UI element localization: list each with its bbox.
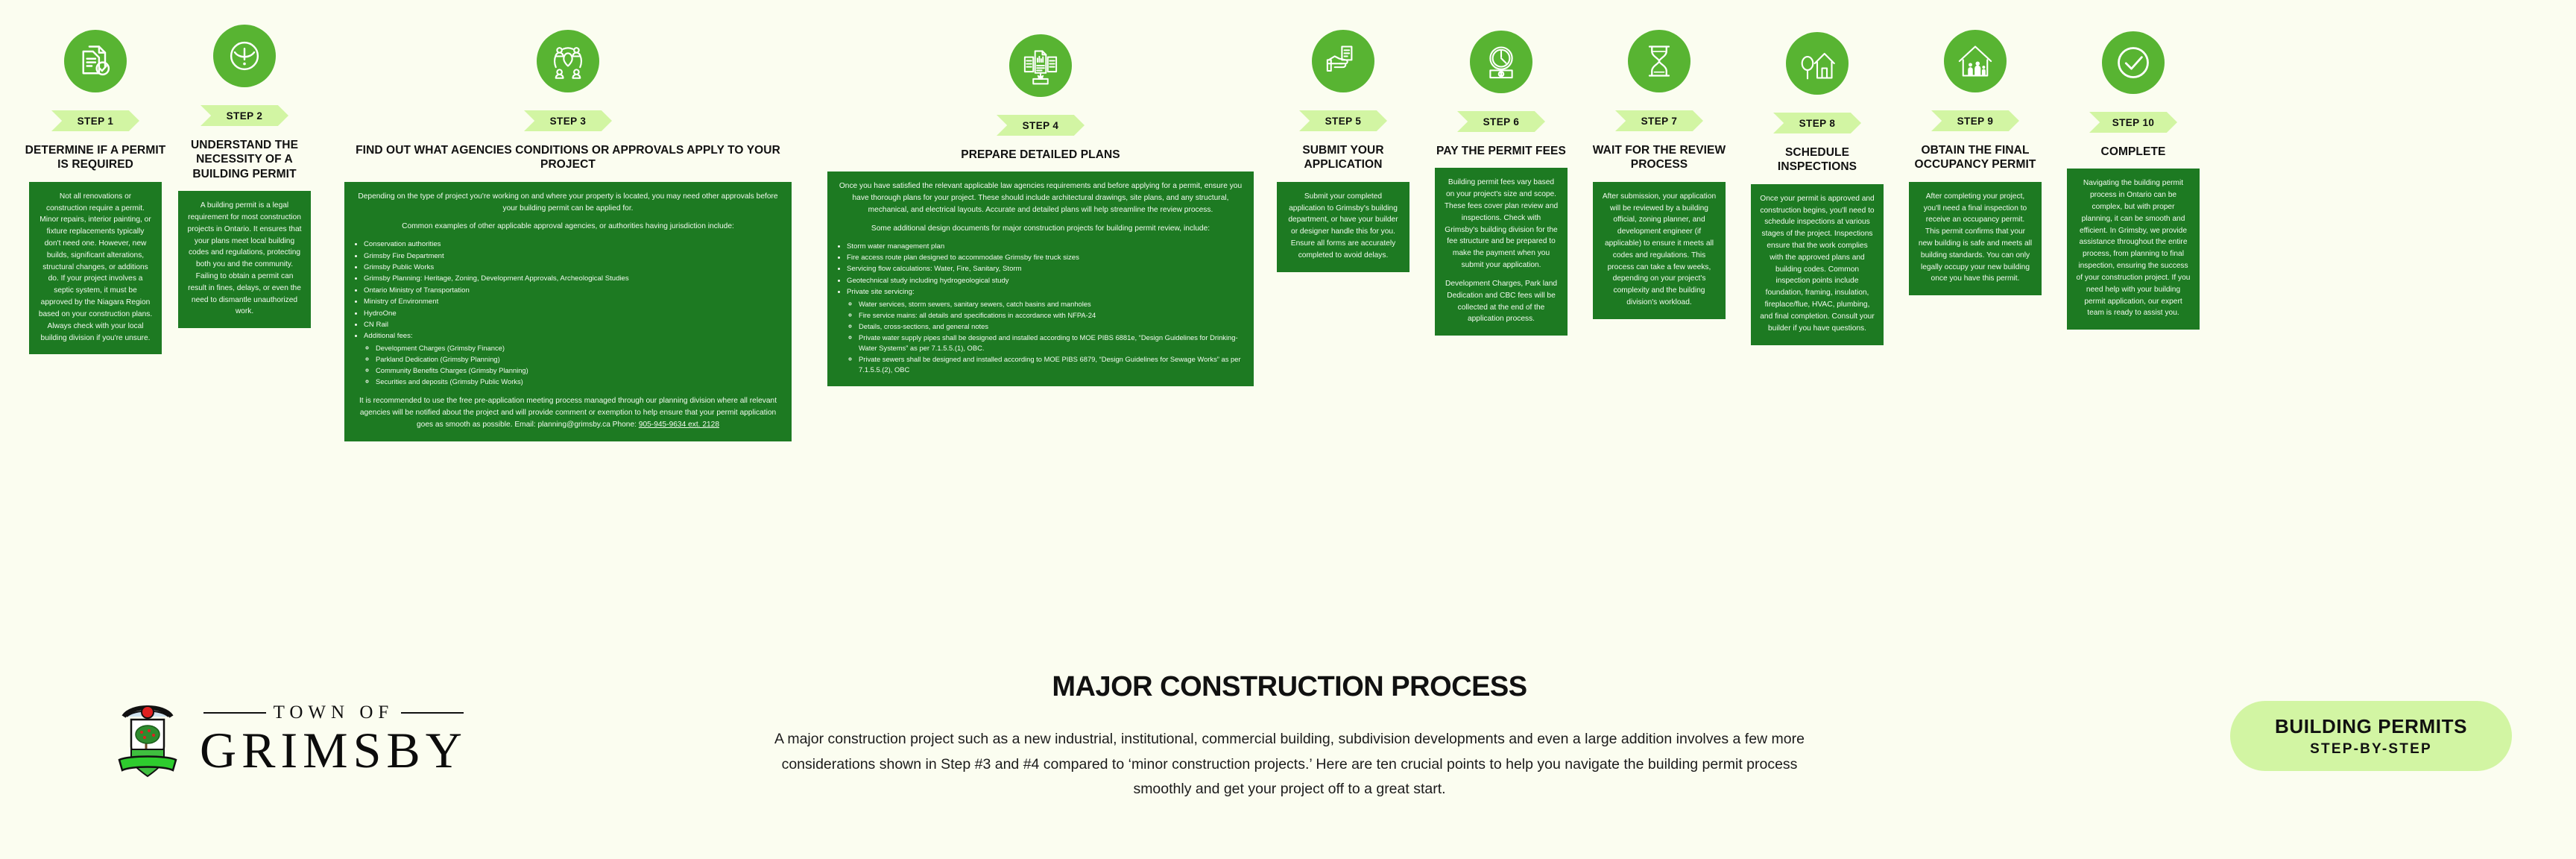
bullet-text: Grimsby Planning: Heritage, Zoning, Deve… [364, 274, 629, 283]
list-item: Grimsby Fire Department [364, 251, 783, 262]
step-10-ribbon-label: STEP 10 [2112, 117, 2155, 128]
step-2-paragraph: A building permit is a legal requirement… [187, 200, 302, 318]
bullet-text: Private site servicing: [847, 288, 915, 296]
step-10-title: COMPLETE [2062, 145, 2204, 159]
step-4-paragraph-2: Some additional design documents for maj… [836, 223, 1245, 235]
list-item: Details, cross-sections, and general not… [859, 321, 1245, 332]
step-4-title: PREPARE DETAILED PLANS [832, 148, 1249, 162]
step-9-ribbon: STEP 9 [1931, 110, 2019, 131]
step-3-paragraph-1: Depending on the type of project you're … [353, 191, 783, 215]
step-3-icon-wrap [537, 25, 599, 97]
step-6-ribbon: STEP 6 [1457, 111, 1545, 132]
list-item: Storm water management plan [847, 242, 1245, 252]
step-4-bullet-list: Storm water management plan Fire access … [847, 242, 1245, 376]
step-6-body: Building permit fees vary based on your … [1435, 168, 1568, 336]
step-1-icon-wrap [64, 25, 127, 97]
step-2-title: UNDERSTAND THE NECESSITY OF A BUILDING P… [174, 138, 315, 181]
money-meter-icon [1470, 31, 1532, 93]
step-3-sub-bullet-list: Development Charges (Grimsby Finance) Pa… [376, 343, 783, 387]
grimsby-coat-of-arms-icon [112, 697, 183, 781]
list-item: Private water supply pipes shall be desi… [859, 333, 1245, 353]
step-6-title: PAY THE PERMIT FEES [1430, 144, 1572, 158]
check-circle-icon [2102, 31, 2165, 94]
step-3-title: FIND OUT WHAT AGENCIES CONDITIONS OR APP… [344, 143, 792, 172]
list-item: Grimsby Public Works [364, 262, 783, 273]
bullet-text: Storm water management plan [847, 242, 944, 251]
brand-town-of: TOWN OF [203, 702, 464, 723]
page-description: A major construction project such as a n… [768, 727, 1811, 802]
bullet-text: Ontario Ministry of Transportation [364, 286, 470, 295]
step-6-paragraph-2: Development Charges, Park land Dedicatio… [1444, 278, 1559, 325]
step-card-4: STEP 4 PREPARE DETAILED PLANS Once you h… [817, 30, 1264, 386]
brand-town-of-label: TOWN OF [274, 702, 394, 723]
hourglass-icon [1628, 30, 1690, 92]
badge-line-2: STEP-BY-STEP [2310, 741, 2432, 758]
step-3-footnote: It is recommended to use the free pre-ap… [353, 395, 783, 430]
step-10-body: Navigating the building permit process i… [2067, 169, 2200, 330]
step-4-paragraph-1: Once you have satisfied the relevant app… [836, 180, 1245, 215]
step-9-title: OBTAIN THE FINAL OCCUPANCY PERMIT [1904, 143, 2046, 172]
step-9-body: After completing your project, you'll ne… [1909, 182, 2042, 296]
step-2-ribbon-label: STEP 2 [227, 110, 263, 122]
list-item: Fire service mains: all details and spec… [859, 310, 1245, 321]
footer: TOWN OF GRIMSBY MAJOR CONSTRUCTION PROCE… [0, 656, 2576, 859]
step-7-body: After submission, your application will … [1593, 182, 1726, 319]
step-8-paragraph: Once your permit is approved and constru… [1760, 193, 1875, 335]
list-item: Geotechnical study including hydrogeolog… [847, 276, 1245, 286]
list-item: Development Charges (Grimsby Finance) [376, 343, 783, 353]
step-10-ribbon: STEP 10 [2089, 112, 2177, 133]
brand-rule-left [203, 712, 266, 714]
people-meeting-icon [537, 30, 599, 92]
infographic-page: STEP 1 DETERMINE IF A PERMIT IS REQUIRED… [0, 0, 2576, 859]
step-9-ribbon-label: STEP 9 [1957, 116, 1994, 127]
step-card-1: STEP 1 DETERMINE IF A PERMIT IS REQUIRED… [21, 25, 170, 354]
page-title: MAJOR CONSTRUCTION PROCESS [768, 671, 1811, 703]
list-item: HydroOne [364, 309, 783, 319]
list-item: Securities and deposits (Grimsby Public … [376, 377, 783, 387]
step-6-paragraph-1: Building permit fees vary based on your … [1444, 177, 1559, 271]
documents-plans-icon [1009, 34, 1072, 97]
brand-text: TOWN OF GRIMSBY [200, 702, 467, 775]
list-item: Additional fees: Development Charges (Gr… [364, 331, 783, 387]
step-8-icon-wrap [1786, 28, 1849, 99]
step-10-icon-wrap [2102, 27, 2165, 98]
step-6-icon-wrap [1470, 26, 1532, 98]
brand-rule-right [401, 712, 464, 714]
step-3-ribbon-label: STEP 3 [550, 116, 587, 127]
step-6-ribbon-label: STEP 6 [1483, 116, 1520, 128]
step-3-paragraph-2: Common examples of other applicable appr… [353, 221, 783, 233]
bullet-text: Fire access route plan designed to accom… [847, 254, 1079, 262]
step-4-ribbon: STEP 4 [997, 115, 1085, 136]
step-5-paragraph: Submit your completed application to Gri… [1286, 191, 1401, 262]
step-1-ribbon: STEP 1 [51, 110, 139, 131]
step-3-bullet-list: Conservation authorities Grimsby Fire De… [364, 239, 783, 387]
step-card-9: STEP 9 OBTAIN THE FINAL OCCUPANCY PERMIT… [1896, 25, 2054, 295]
step-card-10: STEP 10 COMPLETE Navigating the building… [2054, 27, 2212, 330]
bullet-text: Conservation authorities [364, 240, 441, 248]
step-9-paragraph: After completing your project, you'll ne… [1918, 191, 2033, 286]
list-item: Private sewers shall be designed and ins… [859, 354, 1245, 375]
step-9-icon-wrap [1944, 25, 2007, 97]
step-2-ribbon: STEP 2 [201, 105, 288, 126]
step-5-body: Submit your completed application to Gri… [1277, 182, 1409, 272]
step-8-title: SCHEDULE INSPECTIONS [1746, 145, 1888, 174]
step-4-sub-bullet-list: Water services, storm sewers, sanitary s… [859, 299, 1245, 376]
step-3-phone-link[interactable]: 905-945-9634 ext. 2128 [639, 421, 719, 429]
step-1-paragraph: Not all renovations or construction requ… [38, 191, 153, 344]
badge-line-1: BUILDING PERMITS [2275, 715, 2467, 738]
step-5-ribbon: STEP 5 [1299, 110, 1387, 131]
list-item: Community Benefits Charges (Grimsby Plan… [376, 365, 783, 376]
step-card-5: STEP 5 SUBMIT YOUR APPLICATION Submit yo… [1264, 25, 1422, 272]
step-1-ribbon-label: STEP 1 [78, 116, 114, 127]
step-4-body: Once you have satisfied the relevant app… [827, 172, 1254, 386]
bullet-text: Grimsby Fire Department [364, 252, 444, 260]
list-item: Fire access route plan designed to accom… [847, 253, 1245, 263]
step-5-title: SUBMIT YOUR APPLICATION [1272, 143, 1414, 172]
hand-submit-document-icon [1312, 30, 1374, 92]
step-card-2: STEP 2 UNDERSTAND THE NECESSITY OF A BUI… [170, 20, 319, 328]
list-item: CN Rail [364, 320, 783, 330]
house-inspection-icon [1786, 32, 1849, 95]
bullet-text: Servicing flow calculations: Water, Fire… [847, 265, 1022, 273]
step-8-ribbon-label: STEP 8 [1799, 118, 1836, 129]
list-item: Servicing flow calculations: Water, Fire… [847, 264, 1245, 274]
bullet-text: Geotechnical study including hydrogeolog… [847, 277, 1009, 285]
list-item: Water services, storm sewers, sanitary s… [859, 299, 1245, 309]
bullet-text: CN Rail [364, 321, 388, 329]
step-2-body: A building permit is a legal requirement… [178, 191, 311, 328]
status-badge: BUILDING PERMITS STEP-BY-STEP [2230, 701, 2512, 771]
step-8-ribbon: STEP 8 [1773, 113, 1861, 133]
bullet-text: Ministry of Environment [364, 298, 438, 306]
headline-block: MAJOR CONSTRUCTION PROCESS A major const… [768, 671, 1811, 802]
list-item: Private site servicing: Water services, … [847, 287, 1245, 375]
bullet-text: HydroOne [364, 309, 397, 318]
step-1-body: Not all renovations or construction requ… [29, 182, 162, 355]
step-7-title: WAIT FOR THE REVIEW PROCESS [1588, 143, 1730, 172]
steps-row: STEP 1 DETERMINE IF A PERMIT IS REQUIRED… [0, 0, 2576, 656]
bullet-text: Additional fees: [364, 332, 413, 340]
list-item: Parkland Dedication (Grimsby Planning) [376, 354, 783, 365]
step-8-body: Once your permit is approved and constru… [1751, 184, 1884, 345]
list-item: Grimsby Planning: Heritage, Zoning, Deve… [364, 274, 783, 284]
step-card-8: STEP 8 SCHEDULE INSPECTIONS Once your pe… [1738, 28, 1896, 345]
list-item: Ontario Ministry of Transportation [364, 286, 783, 296]
step-7-paragraph: After submission, your application will … [1602, 191, 1717, 309]
step-7-icon-wrap [1628, 25, 1690, 97]
bullet-text: Grimsby Public Works [364, 263, 434, 271]
step-card-3: STEP 3 FIND OUT WHAT AGENCIES CONDITIONS… [319, 25, 817, 441]
step-5-icon-wrap [1312, 25, 1374, 97]
step-3-ribbon: STEP 3 [524, 110, 612, 131]
step-7-ribbon-label: STEP 7 [1641, 116, 1678, 127]
step-5-ribbon-label: STEP 5 [1325, 116, 1362, 127]
step-3-body: Depending on the type of project you're … [344, 182, 792, 441]
house-family-icon [1944, 30, 2007, 92]
exclamation-circle-icon [213, 25, 276, 87]
list-item: Ministry of Environment [364, 297, 783, 307]
step-4-ribbon-label: STEP 4 [1023, 120, 1059, 131]
step-card-7: STEP 7 WAIT FOR THE REVIEW PROCESS After… [1580, 25, 1738, 319]
list-item: Conservation authorities [364, 239, 783, 250]
brand-name: GRIMSBY [200, 725, 467, 775]
document-check-icon [64, 30, 127, 92]
brand-lockup: TOWN OF GRIMSBY [112, 697, 467, 781]
step-card-6: STEP 6 PAY THE PERMIT FEES Building perm… [1422, 26, 1580, 336]
step-2-icon-wrap [213, 20, 276, 92]
step-10-paragraph: Navigating the building permit process i… [2076, 177, 2191, 319]
step-1-title: DETERMINE IF A PERMIT IS REQUIRED [25, 143, 166, 172]
step-4-icon-wrap [1009, 30, 1072, 101]
step-7-ribbon: STEP 7 [1615, 110, 1703, 131]
